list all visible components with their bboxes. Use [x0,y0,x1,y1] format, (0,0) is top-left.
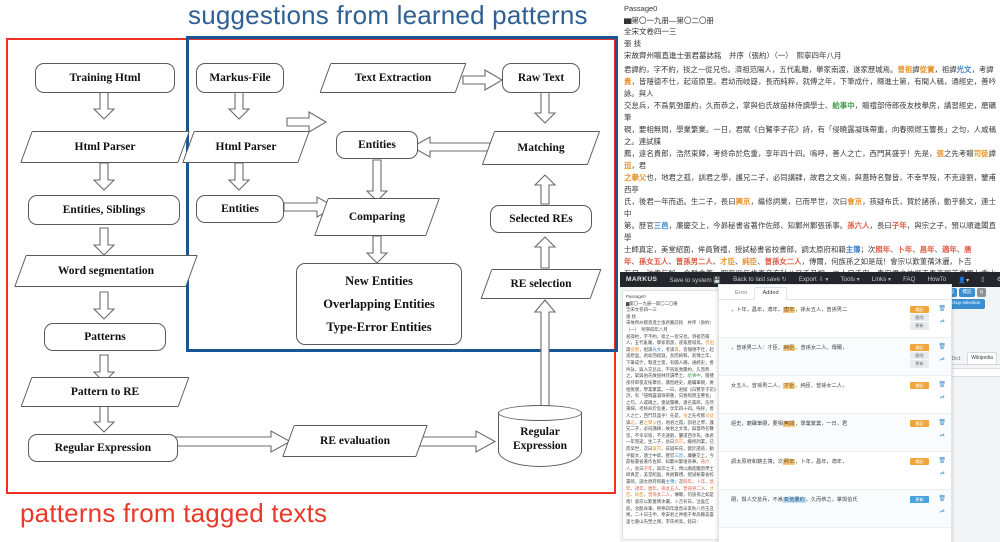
arrow-entities-top-to-comparing [366,160,388,202]
menu-faq[interactable]: FAQ [897,276,921,283]
arrow-comparing-to-new-entities [366,236,388,264]
node-label: Word segmentation [20,265,192,277]
document-line: 交怠兵，不爲氣弛屢約，久而恭之，掌與伯氏故皕林侍讀學士、給事中，贈禮部侍郎夜友枝… [624,100,996,124]
suggestion-icon-buttons: 🗑⥄ [938,344,946,362]
node-label-type-error-entities: Type-Error Entities [326,320,431,335]
node-label: Entities [221,203,259,215]
menu-links[interactable]: Links ▾ [866,276,897,283]
arrow-parser-to-entities-siblings [93,163,115,191]
source-document-pane: Passage0 ▆第〇一九册—第〇二〇册 全宋文卷四一三 張 掞 宋故齊州贈直… [620,0,1000,272]
node-word-segmentation[interactable]: Word segmentation [20,255,192,287]
node-label: Regular Expression [55,442,151,454]
node-regular-expression-database[interactable]: Regular Expression [498,405,582,467]
menu-howto[interactable]: HowTo [921,276,952,283]
node-html-parser-mid[interactable]: Html Parser [188,131,304,163]
node-entities-top[interactable]: Entities [336,131,418,159]
popup-tab-error[interactable]: Error [728,288,754,299]
node-entities-mid[interactable]: Entities [196,195,284,223]
caption-patterns-from-tagged-texts: patterns from tagged texts [20,498,327,529]
suggestions-popup: Error Added ，卜年，昌年，適年，唐年，孫女五人，曾孫男二標記删除更新… [718,284,952,542]
node-label: Raw Text [518,72,564,84]
suggestion-action-button[interactable]: 删除 [910,352,929,359]
suggestion-highlight: 無間 [783,421,795,427]
chevron-down-icon: ▾ [888,276,891,283]
markus-text-pane[interactable]: Passage0▆第〇一九册—第〇二〇册全宋文卷四一三張 掞宋故齊州贈直進士張君… [622,290,722,540]
node-label-line1: Regular [520,426,560,438]
floppy-icon: 💾 [713,277,721,284]
menu-label: Tools [840,276,854,283]
suggestion-row[interactable]: 調太原府和籍主簿；次照年，卜年，昌年，適年，標記🗑⥄ [719,452,951,490]
markup-search-button[interactable]: Q [977,288,987,297]
document-title-line: 宋故齊州贈直進士張君墓誌銘 并序（張約）（一） 熙寧四年八月 [624,50,996,62]
node-label: RE evaluation [288,435,422,447]
document-line: 之擧父也，地君之孤，訓君之學，護兄二子，必同講肄，故君之文焉，與蓋時名聲皆，不幸… [624,172,996,196]
arrow-html-parser-to-entities [228,163,250,191]
document-line: 貴，皆隱德不仕，起道原里。君幼而岐嶷，長而純粹，就傅之年，下筆成什，緜進士第，有… [624,76,996,100]
suggestion-action-buttons: 更新 [910,496,929,503]
settings-icon[interactable]: ⚙ [991,276,1000,283]
arrow-regular-expression-db-to-re-selection [534,300,556,410]
suggestion-highlight: 純臣 [783,345,795,351]
arrow-word-segmentation-to-patterns [93,292,115,320]
node-label: Matching [488,142,594,154]
document-line: 氏，後君一年而逝。生二子，長曰興京，繼修詞業，已而早世，次曰會京，孩疑布氏，賀於… [624,196,996,220]
arrow-text-extraction-to-raw-text [463,70,503,92]
document-volume-line: ▆第〇一九册—第〇二〇册 [624,15,996,27]
document-line: 薦，遠名貴郎，浩然東歸，考終命於危重，享年四十四。嗚呼，善人之亡，西門其盛乎！先… [624,148,996,172]
node-markus-file[interactable]: Markus-File [196,63,284,93]
node-re-selection[interactable]: RE selection [486,269,596,299]
tab-wikipedia[interactable]: Wikipedia [967,352,997,364]
document-header: Passage0 ▆第〇一九册—第〇二〇册 全宋文卷四一三 張 掞 宋故齊州贈直… [620,0,1000,61]
node-re-evaluation[interactable]: RE evaluation [288,425,422,457]
node-html-parser-left[interactable]: Html Parser [26,131,184,163]
node-label: Entities [358,139,396,151]
node-label: Regular Expression [498,419,582,454]
node-label: Comparing [321,211,433,223]
document-line: 年、孫女五人、曾孫男二人、才臣、純臣、曾孫女二人，傳爾，何族孫之如是哉！會宗以歎… [624,256,996,268]
node-label: RE selection [486,278,596,290]
suggestion-action-button[interactable]: 標記 [910,306,929,313]
suggestion-text: 經史，磨礪筆硯，要相無間，學業繁業，一日，君 [731,421,905,428]
trash-icon[interactable]: 🗑 [938,382,946,388]
suggestion-action-button[interactable]: 標記 [910,344,929,351]
locate-icon[interactable]: ⥄ [940,470,945,476]
locate-icon[interactable]: ⥄ [940,508,945,514]
user-icon[interactable]: 👤▾ [952,276,975,284]
arrow-markus-file-to-html-parser [228,92,250,120]
suggestion-action-button[interactable]: 標記 [910,420,929,427]
suggestion-text: ，卜年，昌年，適年，唐年，孫女五人，曾孫男二 [731,307,905,314]
node-raw-text[interactable]: Raw Text [502,63,580,93]
suggestion-row[interactable]: 經史，磨礪筆硯，要相無間，學業繁業，一日，君標記🗑⥄ [719,414,951,452]
menu-back-to-last-save[interactable]: Back to last save ↻ [727,276,793,283]
node-label: Text Extraction [325,72,461,84]
suggestion-action-buttons: 標記 [910,382,929,389]
arrow-regular-expression-to-re-evaluation [175,430,291,454]
suggestion-highlight: 唐年 [783,307,795,313]
markup-tag-button-3[interactable]: 標記 [959,288,974,297]
arrow-selected-res-to-matching [534,175,556,205]
trash-icon[interactable]: 🗑 [938,496,946,502]
document-line: 硯，要相無間，學業繁業。一日，君賦《白鷺李子花》詩，有「侵曉露凝珠帶重，向春照燃… [624,124,996,148]
suggestion-icon-buttons: 🗑⥄ [938,420,946,438]
arrow-pattern-to-re-to-regular-expression [93,405,115,433]
node-training-html[interactable]: Training Html [35,63,175,93]
menu-label: Save to system [669,277,711,284]
suggestion-text: 硯，與人交怠兵，不爲氣弛屢約，久而恭之，掌與伯氏 [731,497,905,504]
markus-pane-text: Passage0▆第〇一九册—第〇二〇册全宋文卷四一三張 掞宋故齊州贈直進士張君… [626,294,718,525]
node-text-extraction[interactable]: Text Extraction [325,63,461,93]
trash-icon[interactable]: 🗑 [938,344,946,350]
document-passage-label: Passage0 [624,3,996,15]
suggestion-row[interactable]: ，曾孫男二人：才臣、純臣、曾孫女二人、傳爾，標記删除更新🗑⥄ [719,338,951,376]
suggestion-text: ，曾孫男二人：才臣、純臣、曾孫女二人、傳爾， [731,345,905,352]
download-icon: ⇩ [818,276,823,283]
suggestion-action-button[interactable]: 更新 [910,496,929,503]
trash-icon[interactable]: 🗑 [938,458,946,464]
screenshot-canvas: suggestions from learned patterns patter… [0,0,1000,542]
arrow-re-selection-to-selected-res [534,237,556,269]
trash-icon[interactable]: 🗑 [938,420,946,426]
markus-brand-logo: MARKUS [620,276,663,283]
document-line: 第。歷官三邑，廉慶交上，今昴秘書省著作佐郎、知鄴州鄴張孫事。孫六人，長曰子年，與… [624,220,996,244]
caption-suggestions-from-learned-patterns: suggestions from learned patterns [188,0,588,31]
suggestion-action-button[interactable]: 標記 [910,458,929,465]
node-label: Html Parser [188,141,304,153]
chevron-down-icon: ▾ [857,276,860,283]
suggestion-action-buttons: 標記 [910,420,929,427]
popup-tab-added[interactable]: Added [754,287,786,300]
node-label-new-entities: New Entities [345,274,413,289]
node-label: Selected REs [509,213,573,225]
suggestion-action-button[interactable]: 删除 [910,314,929,321]
node-label-overlapping-entities: Overlapping Entities [323,297,434,312]
suggestion-icon-buttons: 🗑⥄ [938,382,946,400]
suggestion-icon-buttons: 🗑⥄ [938,306,946,324]
suggestion-row[interactable]: ，卜年，昌年，適年，唐年，孫女五人，曾孫男二標記删除更新🗑⥄ [719,300,951,338]
node-selected-res[interactable]: Selected REs [490,205,592,233]
node-label-line2: Expression [513,440,567,452]
refresh-icon: ↻ [782,276,787,283]
popup-tab-bar: Error Added [719,285,951,300]
suggestion-text: 女五人，曾孫男二人，才臣、純臣、曾孫女二人， [731,383,905,390]
menu-tools[interactable]: Tools ▾ [834,276,865,283]
node-label: Training Html [69,72,140,84]
trash-icon[interactable]: 🗑 [938,306,946,312]
markus-application-window: MARKUS Save to system 💾 Back to last sav… [620,272,1000,542]
suggestion-action-buttons: 標記删除更新 [910,344,929,368]
suggestion-action-button[interactable]: 更新 [910,322,929,329]
locate-icon[interactable]: ⥄ [940,394,945,400]
menu-save-to-system[interactable]: Save to system 💾 [663,276,727,284]
node-label: Pattern to RE [26,386,184,398]
chevron-down-icon: ▾ [825,276,828,283]
suggestion-icon-buttons: 🗑⥄ [938,496,946,514]
node-label: Markus-File [209,72,270,84]
locate-icon[interactable]: ⥄ [940,356,945,362]
document-body-text: 君諱約，字不約，掞之一從兄也。濟祖范陽人，五代亂離，擧家南渡，遂家歷城焉。曾祖諱… [620,61,1000,272]
arrow-markus-to-extraction-spacer [288,100,289,101]
node-pattern-to-re[interactable]: Pattern to RE [26,377,184,407]
suggestion-action-button[interactable]: 標記 [910,382,929,389]
suggestion-text: 調太原府和籍主簿；次照年，卜年，昌年，適年， [731,459,905,466]
locate-icon[interactable]: ⥄ [940,318,945,324]
node-entity-results[interactable]: New Entities Overlapping Entities Type-E… [296,263,462,345]
suggestion-row-list: ，卜年，昌年，適年，唐年，孫女五人，曾孫男二標記删除更新🗑⥄，曾孫男二人：才臣、… [719,300,951,528]
suggestion-highlight: 氣弛屢約 [783,497,806,503]
menu-export[interactable]: Export ⇩ ▾ [793,276,835,283]
node-regular-expression[interactable]: Regular Expression [28,434,178,462]
suggestion-action-buttons: 標記删除更新 [910,306,929,330]
suggestion-row[interactable]: 硯，與人交怠兵，不爲氣弛屢約，久而恭之，掌與伯氏更新🗑⥄ [719,490,951,528]
menu-label: Export [799,276,817,283]
display-icon[interactable]: ▯ [975,276,990,283]
node-label: Html Parser [26,141,184,153]
node-label: Patterns [84,331,126,343]
arrow-raw-text-to-matching [534,92,556,124]
menu-label: Links [872,276,886,283]
suggestion-action-buttons: 標記 [910,458,929,465]
node-comparing[interactable]: Comparing [321,198,433,236]
suggestion-highlight: 照年 [783,459,795,465]
suggestion-highlight: 才臣 [783,383,795,389]
document-line: 士師真定，美堂紹面，侔員賢禮，授試秘書省校書郎，調太原府和籍主簿；次照年、卜年、… [624,244,996,256]
arrow-re-evaluation-to-regular-expression-db [418,430,496,454]
node-label: Entities, Siblings [63,204,145,216]
node-matching[interactable]: Matching [488,131,594,165]
node-entities-siblings[interactable]: Entities, Siblings [28,195,180,225]
suggestion-icon-buttons: 🗑⥄ [938,458,946,476]
suggestion-row[interactable]: 女五人，曾孫男二人，才臣、純臣、曾孫女二人，標記🗑⥄ [719,376,951,414]
arrow-training-to-parser [93,92,115,120]
locate-icon[interactable]: ⥄ [940,432,945,438]
arrow-entities-to-word-segmentation [93,228,115,256]
node-patterns[interactable]: Patterns [44,323,166,351]
suggestion-action-button[interactable]: 更新 [910,360,929,367]
document-author-line: 張 掞 [624,38,996,50]
document-line: 君諱約，字不約，掞之一從兄也。濟祖范陽人，五代亂離，擧家南渡，遂家歷城焉。曾祖諱… [624,64,996,76]
menu-label: Back to last save [733,276,780,283]
document-source-line: 全宋文卷四一三 [624,26,996,38]
